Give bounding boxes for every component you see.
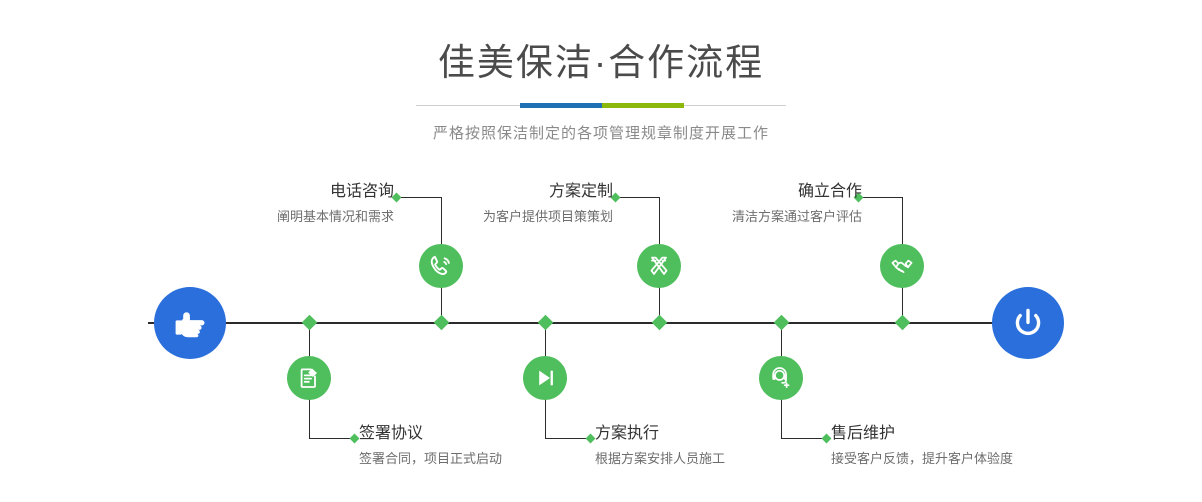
process-flow-diagram: 电话咨询 阐明基本情况和需求 签署协议 签署合同，项目正式启动 xyxy=(0,160,1202,502)
flow-step-3-title: 方案定制 xyxy=(483,182,613,201)
page-title: 佳美保洁·合作流程 xyxy=(0,44,1202,81)
flow-step-1-title: 电话咨询 xyxy=(277,182,394,201)
connector-horizontal-step1 xyxy=(397,197,442,198)
flow-step-2-label: 签署协议 签署合同，项目正式启动 xyxy=(359,424,502,467)
flow-step-4-desc: 根据方案安排人员施工 xyxy=(595,451,725,467)
power-button-icon xyxy=(1008,303,1048,343)
customer-service-add-icon xyxy=(768,365,794,391)
document-edit-icon xyxy=(296,365,322,391)
label-diamond-step2 xyxy=(350,434,360,444)
divider-blue-segment xyxy=(520,103,602,108)
label-diamond-step4 xyxy=(586,434,596,444)
flow-step-4-title: 方案执行 xyxy=(595,424,725,443)
divider-green-segment xyxy=(602,103,684,108)
timeline-axis xyxy=(148,322,1054,324)
flow-step-4-label: 方案执行 根据方案安排人员施工 xyxy=(595,424,725,467)
flow-step-4-icon-node[interactable] xyxy=(523,356,567,400)
connector-horizontal-step4 xyxy=(545,438,591,439)
flow-step-2-title: 签署协议 xyxy=(359,424,502,443)
handshake-icon xyxy=(889,253,915,279)
flow-step-2-icon-node[interactable] xyxy=(287,356,331,400)
flow-start-node[interactable] xyxy=(154,287,226,359)
flow-step-1-icon-node[interactable] xyxy=(419,244,463,288)
flow-step-6-label: 售后维护 接受客户反馈，提升客户体验度 xyxy=(831,424,1013,467)
axis-diamond-step4 xyxy=(538,315,554,331)
page-subtitle: 严格按照保洁制定的各项管理规章制度开展工作 xyxy=(0,122,1202,143)
flow-step-5-title: 确立合作 xyxy=(732,182,862,201)
flow-step-2-desc: 签署合同，项目正式启动 xyxy=(359,451,502,467)
axis-diamond-step1 xyxy=(434,315,450,331)
label-diamond-step6 xyxy=(822,434,832,444)
header: 佳美保洁·合作流程 严格按照保洁制定的各项管理规章制度开展工作 xyxy=(0,0,1202,143)
connector-horizontal-step6 xyxy=(781,438,827,439)
flow-step-6-desc: 接受客户反馈，提升客户体验度 xyxy=(831,451,1013,467)
connector-horizontal-step5 xyxy=(859,197,903,198)
title-divider xyxy=(416,103,786,108)
pencil-ruler-icon xyxy=(646,253,672,279)
play-skip-icon xyxy=(532,365,558,391)
axis-diamond-step5 xyxy=(895,315,911,331)
axis-diamond-step3 xyxy=(652,315,668,331)
flow-step-1-desc: 阐明基本情况和需求 xyxy=(277,209,394,225)
flow-step-6-title: 售后维护 xyxy=(831,424,1013,443)
flow-step-6-icon-node[interactable] xyxy=(759,356,803,400)
flow-step-5-desc: 清洁方案通过客户评估 xyxy=(732,209,862,225)
flow-step-3-icon-node[interactable] xyxy=(637,244,681,288)
flow-step-5-icon-node[interactable] xyxy=(880,244,924,288)
connector-horizontal-step2 xyxy=(309,438,355,439)
flow-step-3-desc: 为客户提供项目策策划 xyxy=(483,209,613,225)
flow-end-node[interactable] xyxy=(992,287,1064,359)
infographic-root: 佳美保洁·合作流程 严格按照保洁制定的各项管理规章制度开展工作 xyxy=(0,0,1202,502)
axis-diamond-step6 xyxy=(774,315,790,331)
connector-horizontal-step3 xyxy=(616,197,660,198)
flow-step-3-label: 方案定制 为客户提供项目策策划 xyxy=(483,182,613,225)
flow-step-1-label: 电话咨询 阐明基本情况和需求 xyxy=(277,182,394,225)
pointing-hand-icon xyxy=(170,303,210,343)
flow-step-5-label: 确立合作 清洁方案通过客户评估 xyxy=(732,182,862,225)
phone-call-icon xyxy=(428,253,454,279)
axis-diamond-step2 xyxy=(302,315,318,331)
